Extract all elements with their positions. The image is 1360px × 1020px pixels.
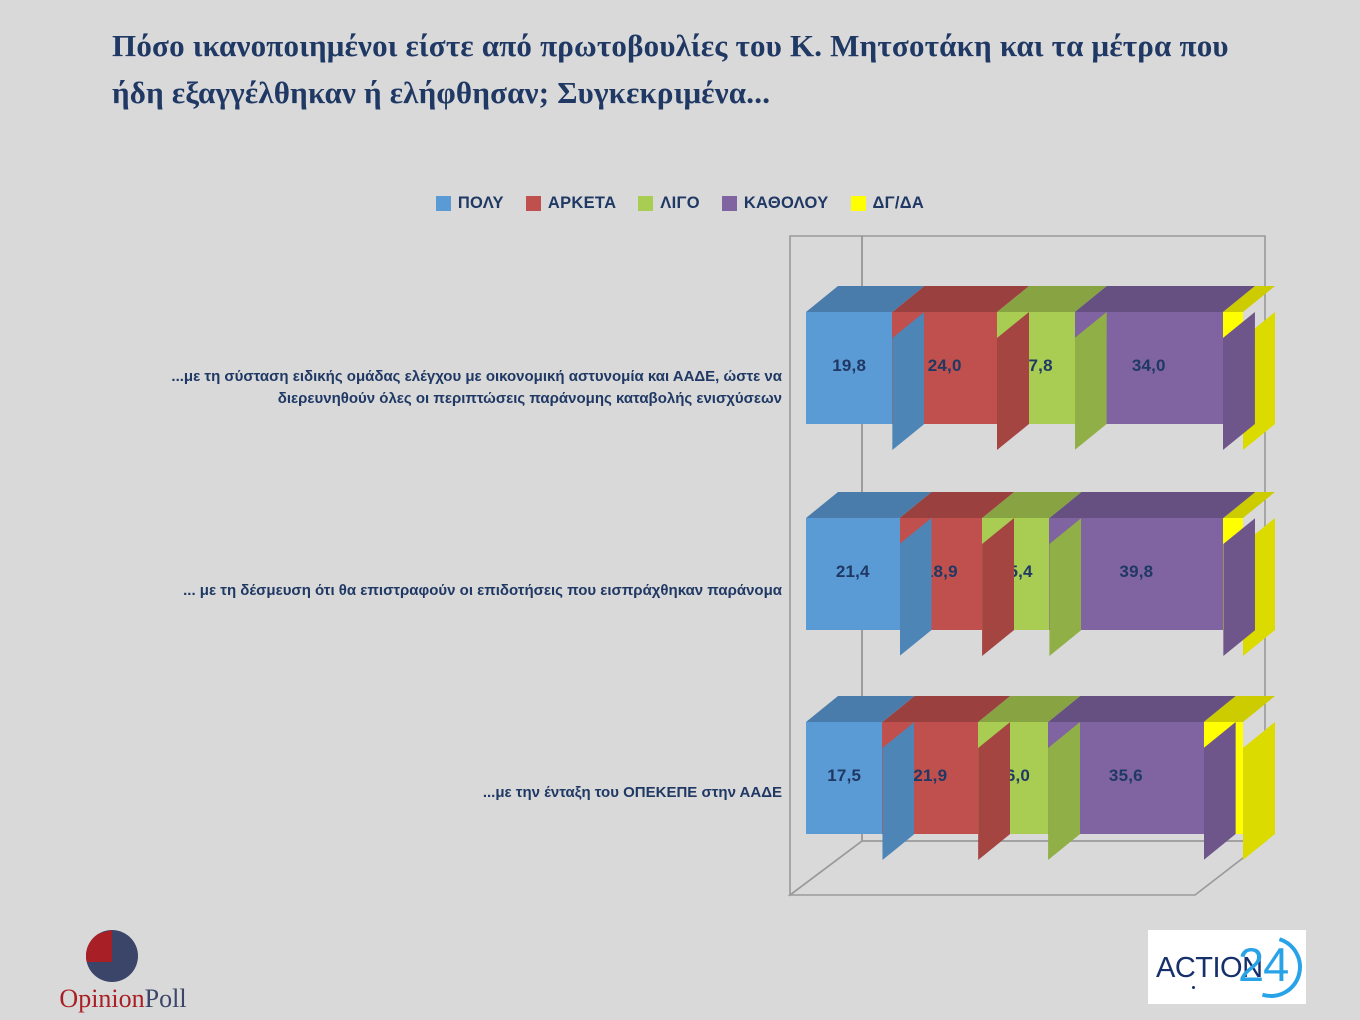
category-label-0: ...με τη σύσταση ειδικής ομάδας ελέγχου … [82, 366, 782, 410]
pie-chart-icon [86, 930, 138, 982]
legend-label-dgda: ΔΓ/ΔΑ [873, 194, 925, 213]
legend-label-poly: ΠΟΛΥ [458, 194, 504, 213]
slide-canvas: Πόσο ικανοποιημένοι είστε από πρωτοβουλί… [0, 0, 1360, 1020]
legend-label-katholou: ΚΑΘΟΛΟΥ [744, 194, 829, 213]
category-label-2: ...με την ένταξη του ΟΠΕΚΕΠΕ στην ΑΑΔΕ [82, 782, 782, 804]
legend-swatch-arketa [526, 196, 541, 211]
action24-logo-inner: ACTION 24 [1148, 930, 1306, 1004]
legend-item-ligo[interactable]: ΛΙΓΟ [638, 194, 700, 213]
legend-label-ligo: ΛΙΓΟ [660, 194, 700, 213]
legend-item-dgda[interactable]: ΔΓ/ΔΑ [851, 194, 925, 213]
legend-item-arketa[interactable]: ΑΡΚΕΤΑ [526, 194, 616, 213]
bar-segment[interactable]: 17,5 [806, 722, 882, 834]
opinionpoll-wordmark: OpinionPoll [38, 984, 208, 1014]
legend-item-poly[interactable]: ΠΟΛΥ [436, 194, 504, 213]
bar-row: 4,539,815,418,921,4 [806, 518, 1275, 630]
bar-value-label: 19,8 [806, 356, 892, 376]
category-label-1: ... με τη δέσμευση ότι θα επιστραφούν οι… [82, 580, 782, 602]
action24-logo: ACTION 24 [1148, 930, 1306, 1004]
bar-value-label: 17,5 [806, 766, 882, 786]
bar-segment-top-face [1048, 696, 1236, 722]
legend-label-arketa: ΑΡΚΕΤΑ [548, 194, 616, 213]
bar-value-label: 21,4 [806, 562, 900, 582]
opinionpoll-word-poll: Poll [145, 984, 187, 1013]
bar-segment-top-face [1049, 492, 1255, 518]
legend-swatch-katholou [722, 196, 737, 211]
page-title: Πόσο ικανοποιημένοι είστε από πρωτοβουλί… [112, 22, 1272, 116]
action24-number: 24 [1238, 941, 1288, 988]
bar-row: 9,035,616,021,917,5 [806, 722, 1275, 834]
legend-swatch-dgda [851, 196, 866, 211]
bar-segment[interactable]: 21,4 [806, 518, 900, 630]
legend-swatch-ligo [638, 196, 653, 211]
opinionpoll-logo: OpinionPoll [38, 928, 208, 1016]
dot-icon [1192, 986, 1195, 989]
bar-segment-side-face [1243, 722, 1275, 860]
legend-swatch-poly [436, 196, 451, 211]
pie-slice-icon [86, 930, 112, 962]
opinionpoll-word-opinion: Opinion [59, 984, 144, 1013]
bar-segment[interactable]: 19,8 [806, 312, 892, 424]
chart-legend: ΠΟΛΥ ΑΡΚΕΤΑ ΛΙΓΟ ΚΑΘΟΛΟΥ ΔΓ/ΔΑ [0, 194, 1360, 213]
legend-item-katholou[interactable]: ΚΑΘΟΛΟΥ [722, 194, 829, 213]
bar-row: 4,634,017,824,019,8 [806, 312, 1275, 424]
